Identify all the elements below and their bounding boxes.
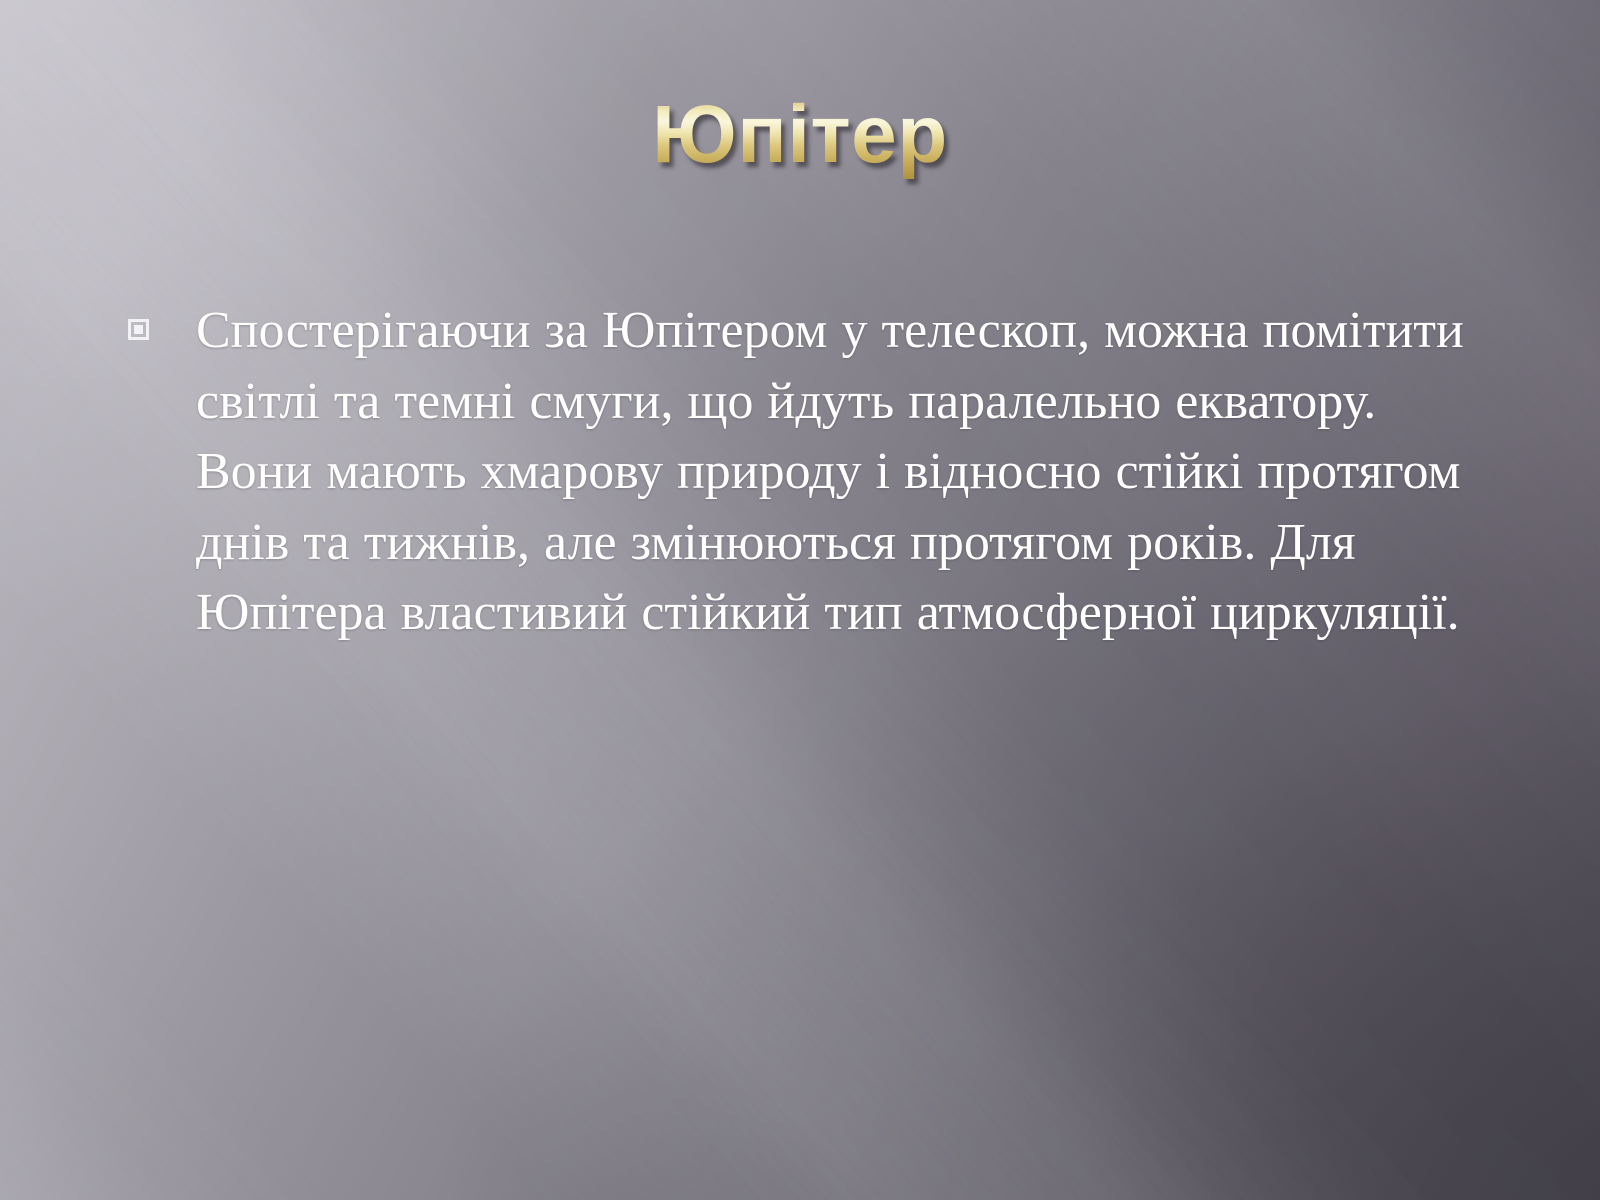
presentation-slide: Юпітер Юпітер Спостерігаючи за Юпітером … bbox=[0, 0, 1600, 1200]
bullet-list-item: Спостерігаючи за Юпітером у телескоп, мо… bbox=[118, 296, 1498, 649]
square-in-square-bullet-icon bbox=[128, 319, 149, 340]
slide-body-content: Спостерігаючи за Юпітером у телескоп, мо… bbox=[118, 296, 1498, 649]
bullet-paragraph-text: Спостерігаючи за Юпітером у телескоп, мо… bbox=[196, 296, 1498, 649]
